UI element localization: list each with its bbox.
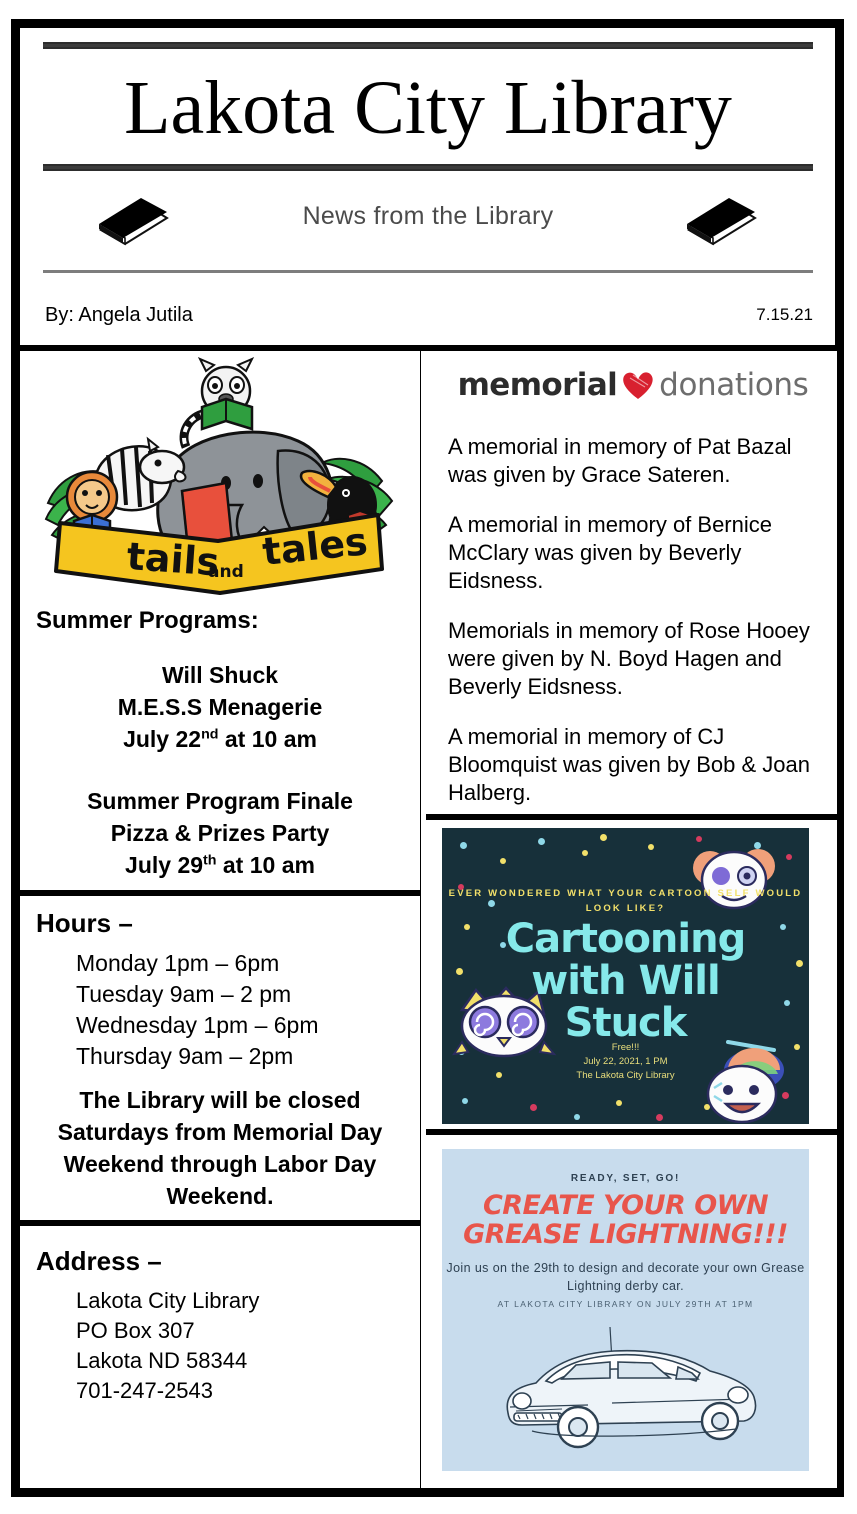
byline-row: By: Angela Jutila 7.15.21 xyxy=(43,304,813,338)
masthead-rule-middle xyxy=(43,164,813,171)
summer-program-1: Will Shuck M.E.S.S Menagerie July 22nd a… xyxy=(20,659,420,755)
list-item: Thursday 9am – 2pm xyxy=(76,1041,319,1072)
title-line-2: GREASE LIGHTNING!!! xyxy=(442,1220,809,1249)
program-date-suffix: at 10 am xyxy=(217,852,315,878)
hours-closure-note: The Library will be closed Saturdays fro… xyxy=(30,1084,410,1212)
address-heading: Address – xyxy=(36,1246,162,1277)
address-section: Address – Lakota City Library PO Box 307… xyxy=(20,1226,420,1488)
hours-section: Hours – Monday 1pm – 6pm Tuesday 9am – 2… xyxy=(20,896,420,1226)
list-item: A memorial in memory of Pat Bazal was gi… xyxy=(448,433,820,489)
program-date-prefix: July 22 xyxy=(123,726,201,752)
title-line-2: with Will xyxy=(442,960,809,1002)
hours-heading: Hours – xyxy=(36,908,133,939)
list-item: Tuesday 9am – 2 pm xyxy=(76,979,319,1010)
memorial-logo-word-1: memorial xyxy=(458,367,618,403)
title-line-1: Cartooning xyxy=(442,918,809,960)
program-date: July 22nd at 10 am xyxy=(20,723,420,755)
byline-author: By: Angela Jutila xyxy=(45,304,193,327)
list-item: 701-247-2543 xyxy=(76,1376,259,1406)
cartoon-poster-kicker: EVER WONDERED WHAT YOUR CARTOON SELF WOU… xyxy=(442,886,809,916)
memorial-donations-section: memorial donations A memorial in memory … xyxy=(426,351,837,820)
grease-poster-title: CREATE YOUR OWN GREASE LIGHTNING!!! xyxy=(442,1191,809,1249)
grease-poster-body: Join us on the 29th to design and decora… xyxy=(442,1259,809,1295)
masthead-rule-top xyxy=(43,42,813,49)
issue-date: 7.15.21 xyxy=(756,305,813,325)
meta-line-1: Free!!! xyxy=(442,1041,809,1055)
program-name: Pizza & Prizes Party xyxy=(20,817,420,849)
right-column: memorial donations A memorial in memory … xyxy=(420,345,837,1488)
summer-programs-heading: Summer Programs: xyxy=(36,607,259,635)
memorial-logo-word-2: donations xyxy=(659,367,808,403)
list-item: Memorials in memory of Rose Hooey were g… xyxy=(448,617,820,701)
list-item: Monday 1pm – 6pm xyxy=(76,948,319,979)
masthead-rule-bottom xyxy=(43,270,813,273)
masthead-inner: Lakota City Library News from the Librar… xyxy=(43,28,813,288)
cartoon-poster-title: Cartooning with Will Stuck xyxy=(442,918,809,1044)
summer-programs-section: tails and tales Summer Programs: Will Sh… xyxy=(20,351,420,896)
list-item: A memorial in memory of Bernice McClary … xyxy=(448,511,820,595)
cartooning-poster: EVER WONDERED WHAT YOUR CARTOON SELF WOU… xyxy=(442,828,809,1124)
program-presenter: Will Shuck xyxy=(20,659,420,691)
program-presenter: Summer Program Finale xyxy=(20,785,420,817)
list-item: A memorial in memory of CJ Bloomquist wa… xyxy=(448,723,820,807)
page-title: Lakota City Library xyxy=(43,56,813,160)
newsletter-page: Lakota City Library News from the Librar… xyxy=(0,0,857,1514)
tails-and-tales-artwork: tails and tales xyxy=(30,355,410,600)
meta-line-2: July 22, 2021, 1 PM xyxy=(442,1055,809,1069)
grease-poster-kicker: READY, SET, GO! xyxy=(442,1173,809,1184)
hours-list: Monday 1pm – 6pm Tuesday 9am – 2 pm Wedn… xyxy=(76,948,319,1072)
svg-text:tails: tails xyxy=(125,534,220,584)
title-line-3: Stuck xyxy=(442,1002,809,1044)
program-date-sup: th xyxy=(203,852,216,868)
cartoon-poster-meta: Free!!! July 22, 2021, 1 PM The Lakota C… xyxy=(442,1041,809,1083)
book-icon xyxy=(683,196,761,248)
cartooning-poster-section: EVER WONDERED WHAT YOUR CARTOON SELF WOU… xyxy=(426,820,837,1135)
program-date-prefix: July 29 xyxy=(125,852,203,878)
list-item: Wednesday 1pm – 6pm xyxy=(76,1010,319,1041)
title-line-1: CREATE YOUR OWN xyxy=(442,1191,809,1220)
program-date-suffix: at 10 am xyxy=(218,726,316,752)
list-item: Lakota ND 58344 xyxy=(76,1346,259,1376)
grease-lightning-poster: READY, SET, GO! CREATE YOUR OWN GREASE L… xyxy=(442,1149,809,1471)
grease-poster-footer: AT LAKOTA CITY LIBRARY ON JULY 29TH AT 1… xyxy=(442,1299,809,1309)
program-date-sup: nd xyxy=(201,726,218,742)
program-name: M.E.S.S Menagerie xyxy=(20,691,420,723)
grease-lightning-poster-section: READY, SET, GO! CREATE YOUR OWN GREASE L… xyxy=(426,1135,837,1488)
masthead: Lakota City Library News from the Librar… xyxy=(20,28,837,340)
list-item: PO Box 307 xyxy=(76,1316,259,1346)
classic-car-illustration xyxy=(492,1321,772,1461)
address-list: Lakota City Library PO Box 307 Lakota ND… xyxy=(76,1286,259,1406)
memorial-donations-logo: memorial donations xyxy=(444,365,822,405)
svg-text:and: and xyxy=(208,562,244,582)
program-date: July 29th at 10 am xyxy=(20,849,420,881)
left-column: tails and tales Summer Programs: Will Sh… xyxy=(20,345,420,1488)
summer-program-2: Summer Program Finale Pizza & Prizes Par… xyxy=(20,785,420,881)
meta-line-3: The Lakota City Library xyxy=(442,1069,809,1083)
list-item: Lakota City Library xyxy=(76,1286,259,1316)
memorial-list: A memorial in memory of Pat Bazal was gi… xyxy=(448,411,820,823)
masthead-subtitle-row: News from the Library xyxy=(43,188,813,260)
heart-icon xyxy=(621,369,655,401)
